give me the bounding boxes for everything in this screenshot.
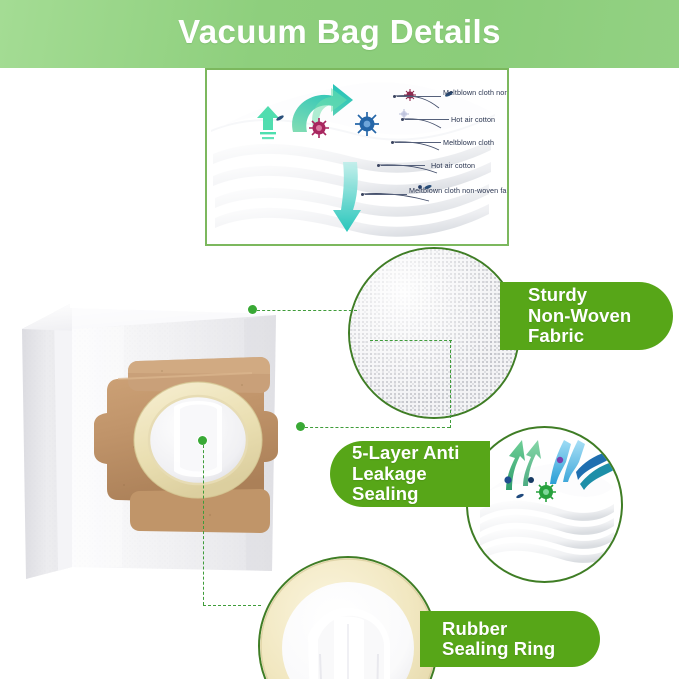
layer-label-4: Hot air cotton	[431, 161, 475, 170]
feature-2-line-1: 5-Layer Anti	[352, 443, 490, 464]
connector-line-ring	[203, 445, 204, 605]
layer-label-3-line1: Meltblown cloth	[443, 138, 494, 147]
layer-leader-line-3	[395, 142, 441, 143]
feature-2-line-3: Sealing	[352, 484, 490, 505]
feature-label-sturdy-non-woven-fabric: Sturdy Non-Woven Fabric	[500, 282, 673, 350]
layers-diagram-box: Meltblown cloth non-woven fabric Hot air…	[205, 68, 509, 246]
vacuum-bag-photo	[14, 275, 306, 587]
feature-1-line-1: Sturdy	[528, 285, 673, 306]
layered-sealing-illustration	[468, 428, 621, 581]
connector-line-layers-top	[370, 340, 452, 341]
layer-leader-dot-4	[377, 164, 380, 167]
layer-leader-dot-5	[361, 193, 364, 196]
layer-leader-line-1	[397, 96, 441, 97]
layer-label-1: Meltblown cloth non-woven fabric	[443, 88, 509, 97]
connector-dot-layers	[296, 422, 305, 431]
layer-leader-line-5	[365, 194, 407, 195]
connector-line-fabric	[257, 310, 357, 311]
layer-label-5-line2: non-woven fabric	[462, 186, 509, 195]
layer-label-5: Meltblown cloth non-woven fabric	[409, 186, 509, 195]
feature-1-line-3: Fabric	[528, 326, 673, 347]
feature-1-line-2: Non-Woven	[528, 306, 673, 327]
feature-3-line-2: Sealing Ring	[442, 639, 600, 660]
layer-label-5-line1: Meltblown cloth	[409, 186, 460, 195]
layer-leader-dot-3	[391, 141, 394, 144]
layer-label-1-line2: non-woven fabric	[496, 88, 509, 97]
layer-label-3: Meltblown cloth	[443, 138, 494, 147]
layer-leader-line-4	[381, 165, 425, 166]
layer-label-2-line1: Hot air cotton	[451, 115, 495, 124]
connector-line-ring-bottom	[203, 605, 261, 606]
layer-leader-dot-2	[401, 118, 404, 121]
feature-2-line-2: Leakage	[352, 464, 490, 485]
connector-dot-ring	[198, 436, 207, 445]
layer-leader-line-2	[405, 119, 449, 120]
layer-label-2: Hot air cotton	[451, 115, 495, 124]
connector-line-layers-vertical	[450, 340, 451, 428]
layer-label-1-line1: Meltblown cloth	[443, 88, 494, 97]
feature-label-five-layer-anti-leakage-sealing: 5-Layer Anti Leakage Sealing	[330, 441, 490, 507]
fabric-highlight	[350, 249, 518, 417]
infographic-page: Vacuum Bag Details	[0, 0, 679, 679]
page-title: Vacuum Bag Details	[0, 0, 679, 68]
feature-3-line-1: Rubber	[442, 619, 600, 640]
feature-label-rubber-sealing-ring: Rubber Sealing Ring	[420, 611, 600, 667]
connector-line-layers-horizontal	[305, 427, 450, 428]
fabric-closeup-circle	[348, 247, 520, 419]
layer-label-4-line1: Hot air cotton	[431, 161, 475, 170]
connector-dot-fabric	[248, 305, 257, 314]
layer-leader-dot-1	[393, 95, 396, 98]
